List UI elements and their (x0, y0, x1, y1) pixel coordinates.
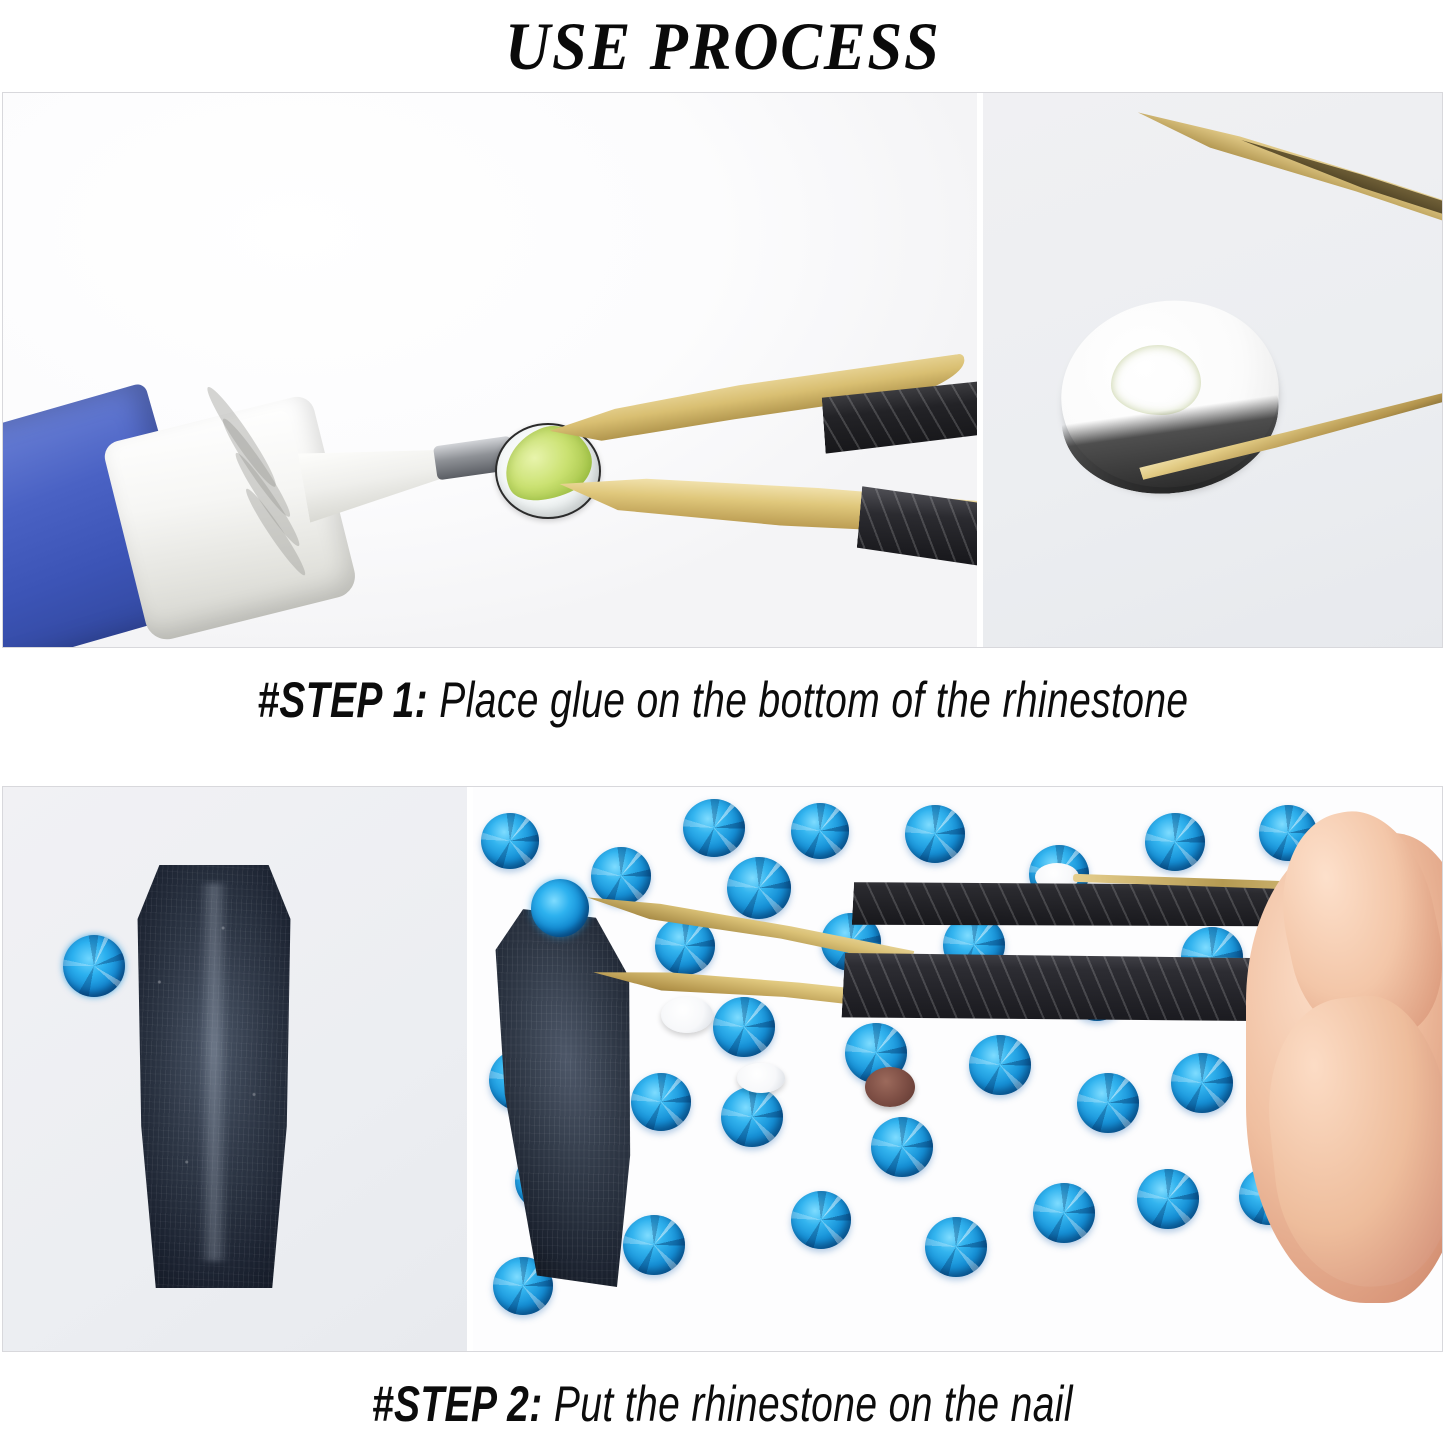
scattered-brown-flatback (865, 1067, 915, 1107)
step-2-caption-text: #STEP 2: Put the rhinestone on the nail (372, 1375, 1073, 1433)
scattered-rhinestone (905, 805, 965, 863)
step-1-caption: #STEP 1: Place glue on the bottom of the… (0, 648, 1445, 752)
scattered-rhinestone (871, 1117, 933, 1177)
scattered-rhinestone (623, 1215, 685, 1275)
glue-applied-to-rhinestone-photo: G (3, 93, 977, 647)
step-2-description: Put the rhinestone on the nail (543, 1376, 1073, 1432)
scattered-rhinestone (969, 1035, 1031, 1095)
step-1-label: #STEP 1: (257, 672, 428, 728)
placing-rhinestone-on-nail-photo (473, 787, 1442, 1351)
scattered-rhinestone (791, 803, 849, 859)
scattered-rhinestone (1077, 1073, 1139, 1133)
scattered-rhinestone (727, 857, 791, 919)
nail-with-rhinestone-photo (3, 787, 467, 1351)
tweezer-upper-gold-tip (1133, 93, 1442, 267)
scattered-rhinestone (791, 1191, 851, 1249)
scattered-white-flatback (737, 1063, 785, 1093)
scattered-rhinestone (1137, 1169, 1199, 1229)
scattered-rhinestone (713, 997, 775, 1057)
step-1-description: Place glue on the bottom of the rhinesto… (428, 672, 1188, 728)
scattered-rhinestone (1033, 1183, 1095, 1243)
scattered-rhinestone (631, 1073, 691, 1131)
page-title: USE PROCESS (505, 12, 941, 80)
scattered-rhinestone (481, 813, 539, 869)
rhinestone-with-glue-closeup-photo (983, 93, 1442, 647)
scattered-rhinestone (1145, 813, 1205, 871)
step-2-label: #STEP 2: (372, 1376, 543, 1432)
step-2-caption: #STEP 2: Put the rhinestone on the nail (0, 1352, 1445, 1456)
glue-drop (1111, 345, 1201, 415)
title-bar: USE PROCESS (0, 0, 1445, 92)
blue-rhinestone-on-nail (63, 935, 125, 997)
scattered-rhinestone (683, 799, 745, 857)
scattered-rhinestone (591, 847, 651, 905)
rhinestone-facets (63, 935, 125, 997)
press-on-nail (123, 847, 305, 1297)
scattered-rhinestone (721, 1087, 783, 1147)
scattered-rhinestone (925, 1217, 987, 1277)
scattered-white-flatback (661, 997, 713, 1033)
step-1-photo-row: G (2, 92, 1443, 648)
scattered-rhinestone (1171, 1053, 1233, 1113)
step-2-photo-row (2, 786, 1443, 1352)
step-1-caption-text: #STEP 1: Place glue on the bottom of the… (257, 671, 1188, 729)
nail-highlight (199, 883, 228, 1261)
